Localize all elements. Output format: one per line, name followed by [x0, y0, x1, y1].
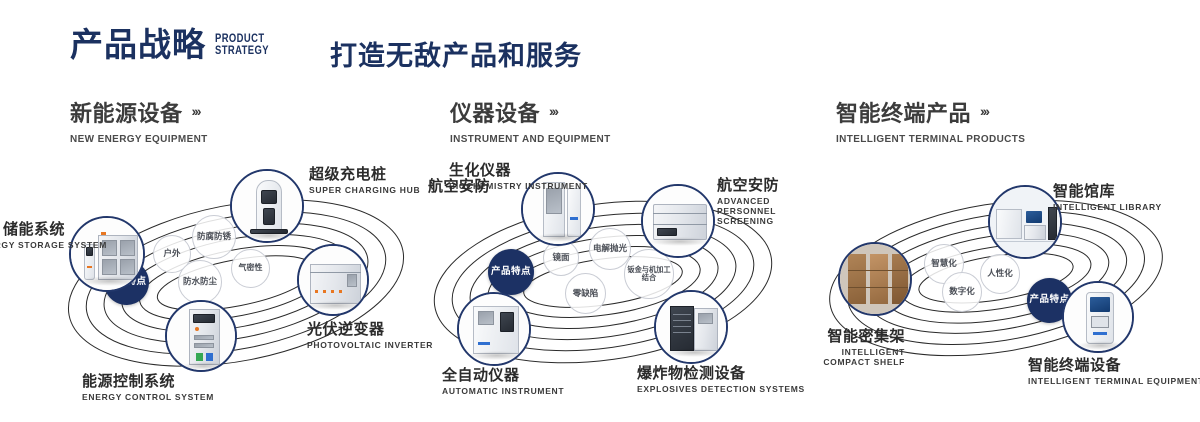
- node-photovoltaic-inverter[interactable]: [297, 244, 369, 316]
- node-label-cn: 智能馆库: [1053, 180, 1193, 201]
- page-title-en-line1: PRODUCT: [215, 33, 269, 45]
- intelligent-compact-shelf-photo: [840, 244, 910, 314]
- node-label-en: AUTOMATIC INSTRUMENT: [442, 386, 592, 396]
- chevrons-right-icon: ›››: [192, 103, 200, 119]
- energy-storage-cabinet-photo: [71, 218, 143, 290]
- node-label-energy-control-system: 能源控制系统 ENERGY CONTROL SYSTEM: [82, 370, 252, 402]
- section-title-cn-instrument: 仪器设备 ›››: [450, 96, 619, 128]
- page-slogan: 打造无敌产品和服务: [330, 34, 582, 73]
- feature-bubble-intelligent-2: 数字化: [942, 272, 982, 312]
- node-energy-storage-system[interactable]: [69, 216, 145, 292]
- node-label-cn: 智能密集架: [755, 325, 905, 346]
- section-title-cn-intelligent-terminal: 智能终端产品 ›››: [836, 96, 1035, 128]
- node-label-aviation-security-prefix: 航空安防: [395, 175, 490, 196]
- section-heading-intelligent-terminal: 智能终端产品 ››› INTELLIGENT TERMINAL PRODUCTS: [836, 96, 1035, 145]
- node-label-cn: 能源控制系统: [82, 370, 252, 391]
- section-heading-new-energy: 新能源设备 ››› NEW ENERGY EQUIPMENT: [70, 96, 215, 145]
- feature-bubble-instrument-3: 零缺陷: [565, 273, 606, 314]
- node-label-cn: 储能系统: [0, 218, 65, 239]
- section-title-text-new-energy: 新能源设备: [70, 96, 183, 128]
- node-label-en: INTELLIGENT LIBRARY: [1053, 202, 1193, 212]
- feature-bubble-instrument-1: 电解抛光: [589, 228, 631, 270]
- section-title-en-intelligent-terminal: INTELLIGENT TERMINAL PRODUCTS: [836, 133, 1025, 145]
- intelligent-terminal-equipment-photo: [1064, 283, 1132, 351]
- node-label-cn: 航空安防: [395, 175, 490, 196]
- product-strategy-infographic: 产品战略 PRODUCT STRATEGY 打造无敌产品和服务 新能源设备 ››…: [0, 0, 1200, 422]
- node-label-cn: 智能终端设备: [1028, 354, 1200, 375]
- node-label-intelligent-compact-shelf: 智能密集架 INTELLIGENT COMPACT SHELF: [755, 325, 905, 367]
- node-label-energy-storage-system: 储能系统 ENERGY STORAGE SYSTEM: [0, 218, 65, 250]
- section-title-en-new-energy: NEW ENERGY EQUIPMENT: [70, 133, 208, 145]
- node-label-intelligent-library: 智能馆库 INTELLIGENT LIBRARY: [1053, 180, 1193, 212]
- node-label-cn: 全自动仪器: [442, 364, 592, 385]
- chevrons-right-icon: ›››: [549, 103, 557, 119]
- node-label-automatic-instrument: 全自动仪器 AUTOMATIC INSTRUMENT: [442, 364, 592, 396]
- page-title-en: PRODUCT STRATEGY: [215, 33, 269, 57]
- node-label-en: INTELLIGENT TERMINAL EQUIPMENT: [1028, 376, 1200, 386]
- super-charging-hub-photo: [232, 171, 302, 241]
- chevrons-right-icon: ›››: [980, 103, 988, 119]
- page-title: 产品战略 PRODUCT STRATEGY: [70, 28, 281, 61]
- node-intelligent-library[interactable]: [988, 185, 1062, 259]
- page-title-en-line2: STRATEGY: [215, 45, 269, 57]
- node-label-en: ADVANCED PERSONNEL SCREENING: [717, 196, 809, 226]
- section-title-text-instrument: 仪器设备: [450, 96, 540, 128]
- advanced-personnel-screening-photo: [643, 186, 713, 256]
- center-badge-text: 产品特点: [491, 267, 531, 278]
- node-advanced-personnel-screening[interactable]: [641, 184, 715, 258]
- node-intelligent-compact-shelf[interactable]: [838, 242, 912, 316]
- section-title-text-intelligent-terminal: 智能终端产品: [836, 96, 971, 128]
- node-super-charging-hub[interactable]: [230, 169, 304, 243]
- node-label-en: ENERGY CONTROL SYSTEM: [82, 392, 252, 402]
- node-explosives-detection-systems[interactable]: [654, 290, 728, 364]
- feature-bubble-intelligent-1: 人性化: [980, 254, 1020, 294]
- section-heading-instrument: 仪器设备 ››› INSTRUMENT AND EQUIPMENT: [450, 96, 619, 145]
- node-label-intelligent-terminal-equipment: 智能终端设备 INTELLIGENT TERMINAL EQUIPMENT: [1028, 354, 1200, 386]
- explosives-detection-photo: [656, 292, 726, 362]
- node-energy-control-system[interactable]: [165, 300, 237, 372]
- section-title-en-instrument: INSTRUMENT AND EQUIPMENT: [450, 133, 611, 145]
- feature-bubble-new-energy-3: 气密性: [231, 249, 270, 288]
- intelligent-library-photo: [990, 187, 1060, 257]
- node-automatic-instrument[interactable]: [457, 292, 531, 366]
- cluster-intelligent-terminal: 智慧化 人性化 数字化 产品特点 智能馆库 INTELLIGENT LIBRAR…: [810, 160, 1200, 400]
- node-label-en: EXPLOSIVES DETECTION SYSTEMS: [637, 384, 817, 394]
- energy-control-system-photo: [167, 302, 235, 370]
- node-intelligent-terminal-equipment[interactable]: [1062, 281, 1134, 353]
- node-label-en: ENERGY STORAGE SYSTEM: [0, 240, 65, 250]
- photovoltaic-inverter-photo: [299, 246, 367, 314]
- feature-bubble-new-energy-2: 防水防尘: [178, 260, 222, 304]
- node-label-en: INTELLIGENT COMPACT SHELF: [805, 347, 905, 367]
- center-badge-instrument: 产品特点: [488, 249, 534, 295]
- feature-bubble-new-energy-1: 防腐防锈: [192, 215, 236, 259]
- automatic-instrument-photo: [459, 294, 529, 364]
- section-title-cn-new-energy: 新能源设备 ›››: [70, 96, 215, 128]
- page-title-cn: 产品战略: [70, 28, 206, 61]
- cluster-new-energy: 户外 防腐防锈 防水防尘 气密性 产品特点 储能系统 ENERG: [40, 155, 440, 400]
